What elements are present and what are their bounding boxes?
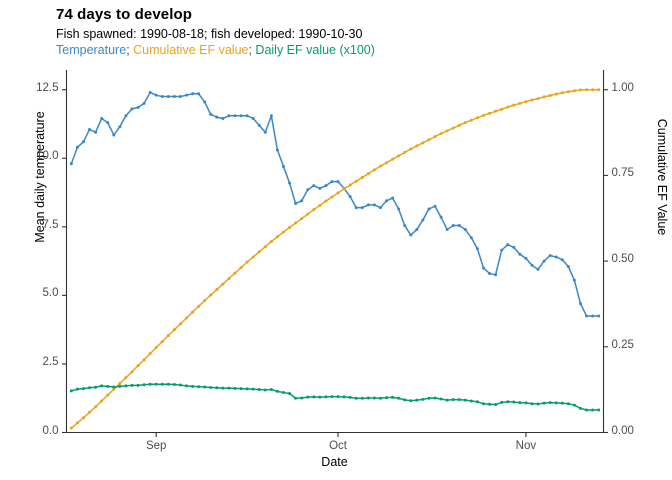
legend-entry-daily-ef: Daily EF value (x100) (255, 43, 375, 57)
x-axis-title: Date (66, 455, 603, 469)
y-tick-left-5.0: 5.0 (0, 287, 59, 299)
y-tick-left-0.0: 0.0 (0, 425, 59, 437)
y-tick-right-0.25: 0.25 (612, 339, 634, 351)
x-tick-oct: Oct (313, 440, 363, 452)
chart-container: 74 days to develop Fish spawned: 1990-08… (0, 0, 672, 480)
y-tick-left-12.5: 12.5 (0, 82, 59, 94)
y-axis-left-title: Mean daily temperature (33, 67, 47, 287)
plot-area (0, 0, 672, 480)
legend-entry-temperature: Temperature (56, 43, 126, 57)
y-axis-right-title: Cumulative EF Value (655, 67, 669, 287)
y-tick-right-0.00: 0.00 (612, 425, 634, 437)
y-tick-right-0.75: 0.75 (612, 167, 634, 179)
legend-entry-cumulative-ef: Cumulative EF value (133, 43, 248, 57)
y-tick-left-7.5: 7.5 (0, 219, 59, 231)
x-tick-nov: Nov (501, 440, 551, 452)
chart-subtitle-dates: Fish spawned: 1990-08-18; fish developed… (56, 27, 362, 41)
x-tick-sep: Sep (131, 440, 181, 452)
chart-title: 74 days to develop (56, 6, 192, 23)
y-tick-left-10.0: 10.0 (0, 150, 59, 162)
y-tick-left-2.5: 2.5 (0, 356, 59, 368)
y-tick-right-0.50: 0.50 (612, 253, 634, 265)
y-tick-right-1.00: 1.00 (612, 82, 634, 94)
chart-legend-subtitle: Temperature; Cumulative EF value; Daily … (56, 43, 375, 57)
